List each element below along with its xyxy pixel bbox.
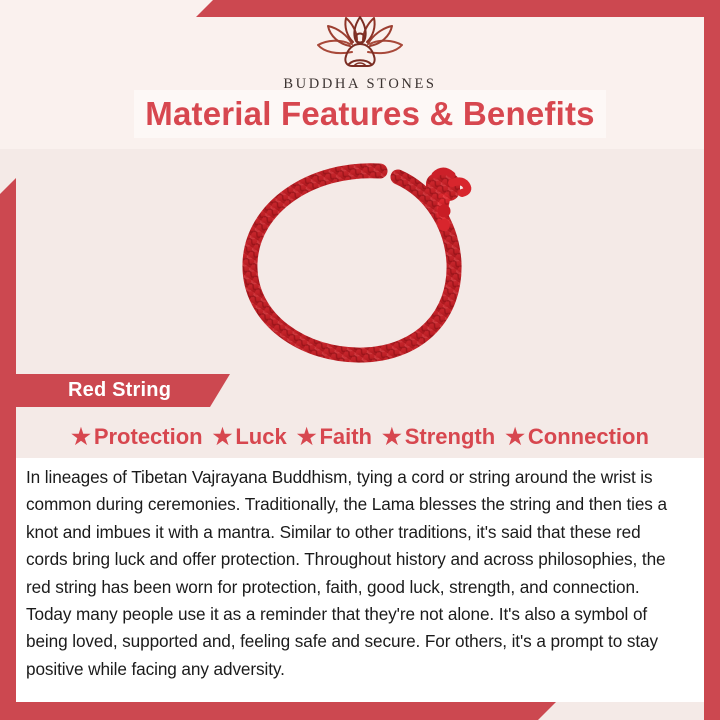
star-icon: ★ (505, 426, 525, 448)
decorative-bottom-red-strip (0, 702, 556, 720)
benefit-label: Protection (94, 424, 203, 450)
benefit-item-connection: ★ Connection (500, 424, 654, 450)
benefit-item-protection: ★ Protection (66, 424, 208, 450)
brand-logo-block: BUDDHA STONES (0, 16, 720, 93)
star-icon: ★ (213, 426, 233, 448)
benefit-label: Luck (235, 424, 286, 450)
product-name-label: Red String (68, 379, 171, 402)
decorative-right-red-bar (704, 0, 720, 720)
infographic-poster: BUDDHA STONES Material Features & Benefi… (0, 0, 720, 720)
product-name-tag: Red String (16, 374, 230, 407)
red-braided-string-bracelet-icon (230, 155, 490, 369)
star-icon: ★ (71, 426, 91, 448)
description-panel: In lineages of Tibetan Vajrayana Buddhis… (16, 458, 704, 702)
product-image-area (16, 149, 704, 374)
benefits-list: ★ Protection ★ Luck ★ Faith ★ Strength ★… (16, 419, 704, 455)
description-text: In lineages of Tibetan Vajrayana Buddhis… (26, 464, 686, 683)
star-icon: ★ (297, 426, 317, 448)
benefit-item-faith: ★ Faith (292, 424, 377, 450)
benefit-label: Faith (319, 424, 372, 450)
benefit-item-luck: ★ Luck (208, 424, 292, 450)
title-banner: Material Features & Benefits (134, 90, 606, 138)
decorative-top-red-strip (196, 0, 720, 17)
benefit-label: Strength (405, 424, 495, 450)
star-icon: ★ (382, 426, 402, 448)
benefit-label: Connection (528, 424, 649, 450)
benefit-item-strength: ★ Strength (377, 424, 500, 450)
lotus-meditation-icon (317, 16, 403, 72)
decorative-left-red-bar (0, 178, 16, 720)
page-title: Material Features & Benefits (145, 95, 594, 133)
